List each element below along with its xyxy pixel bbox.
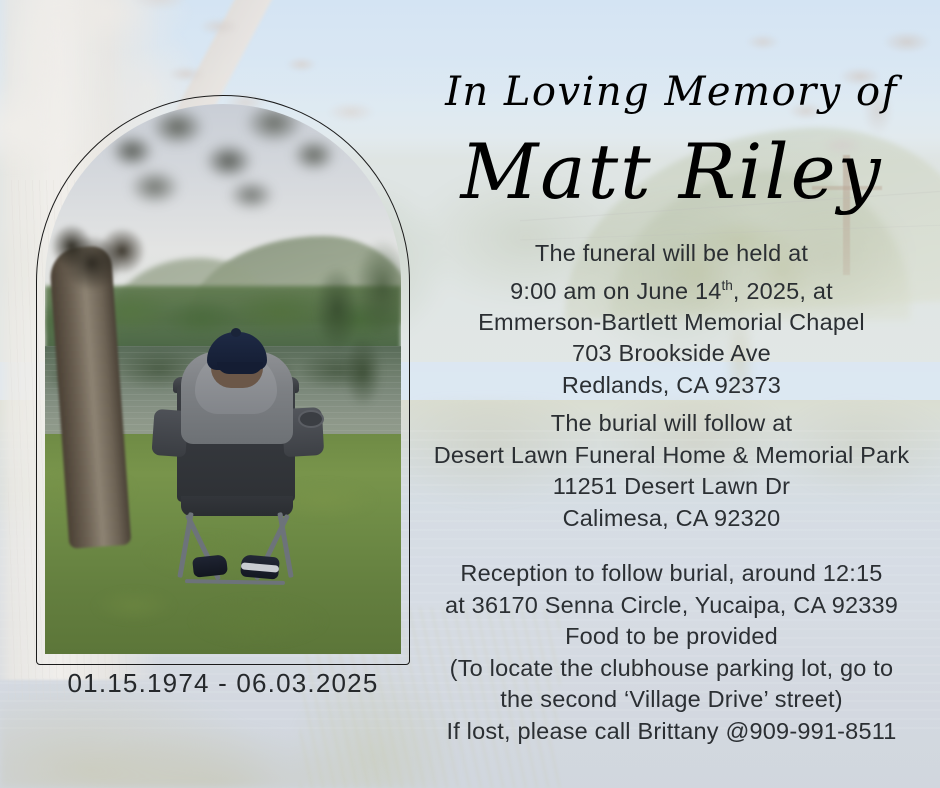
photo-person-shoe-left [192, 554, 228, 577]
reception-line-4: (To locate the clubhouse parking lot, go… [403, 653, 940, 685]
funeral-time-ordinal: th [721, 278, 732, 293]
reception-line-3: Food to be provided [403, 621, 940, 653]
burial-line-2: Desert Lawn Funeral Home & Memorial Park [403, 440, 940, 472]
funeral-time-rest: , 2025, at [733, 277, 833, 303]
in-loving-memory-heading: In Loving Memory of [403, 72, 940, 112]
reception-line-5: the second ‘Village Drive’ street) [403, 684, 940, 716]
photo-person-cap-brim [217, 362, 263, 374]
photo-person-cap-button [231, 328, 241, 337]
announcement-text-column: In Loving Memory of Matt Riley The funer… [403, 0, 940, 788]
chair-cup-holder [298, 410, 324, 428]
burial-line-3: 11251 Desert Lawn Dr [403, 471, 940, 503]
funeral-line-4: 703 Brookside Ave [403, 338, 940, 370]
memorial-photo-frame [45, 104, 401, 654]
funeral-time-line: 9:00 am on June 14th, 2025, at [403, 270, 940, 307]
burial-line-4: Calimesa, CA 92320 [403, 503, 940, 535]
memorial-card: 01.15.1974 - 06.03.2025 In Loving Memory… [0, 0, 940, 788]
reception-line-2: at 36170 Senna Circle, Yucaipa, CA 92339 [403, 590, 940, 622]
funeral-line-5: Redlands, CA 92373 [403, 370, 940, 402]
burial-line-1: The burial will follow at [403, 408, 940, 440]
memorial-photo [45, 104, 401, 654]
reception-details: Reception to follow burial, around 12:15… [403, 558, 940, 747]
life-dates: 01.15.1974 - 06.03.2025 [45, 668, 401, 699]
chair-seat [181, 496, 293, 516]
burial-details: The burial will follow at Desert Lawn Fu… [403, 408, 940, 534]
reception-line-1: Reception to follow burial, around 12:15 [403, 558, 940, 590]
reception-contact-line: If lost, please call Brittany @909-991-8… [403, 716, 940, 748]
funeral-line-3: Emmerson-Bartlett Memorial Chapel [403, 307, 940, 339]
chair-leg-front-left [177, 512, 193, 578]
funeral-time-prefix: 9:00 am on June 14 [510, 277, 721, 303]
funeral-line-1: The funeral will be held at [403, 238, 940, 270]
funeral-details: The funeral will be held at 9:00 am on J… [403, 238, 940, 401]
deceased-name: Matt Riley [403, 130, 940, 214]
photo-overhead-foliage [81, 104, 366, 271]
